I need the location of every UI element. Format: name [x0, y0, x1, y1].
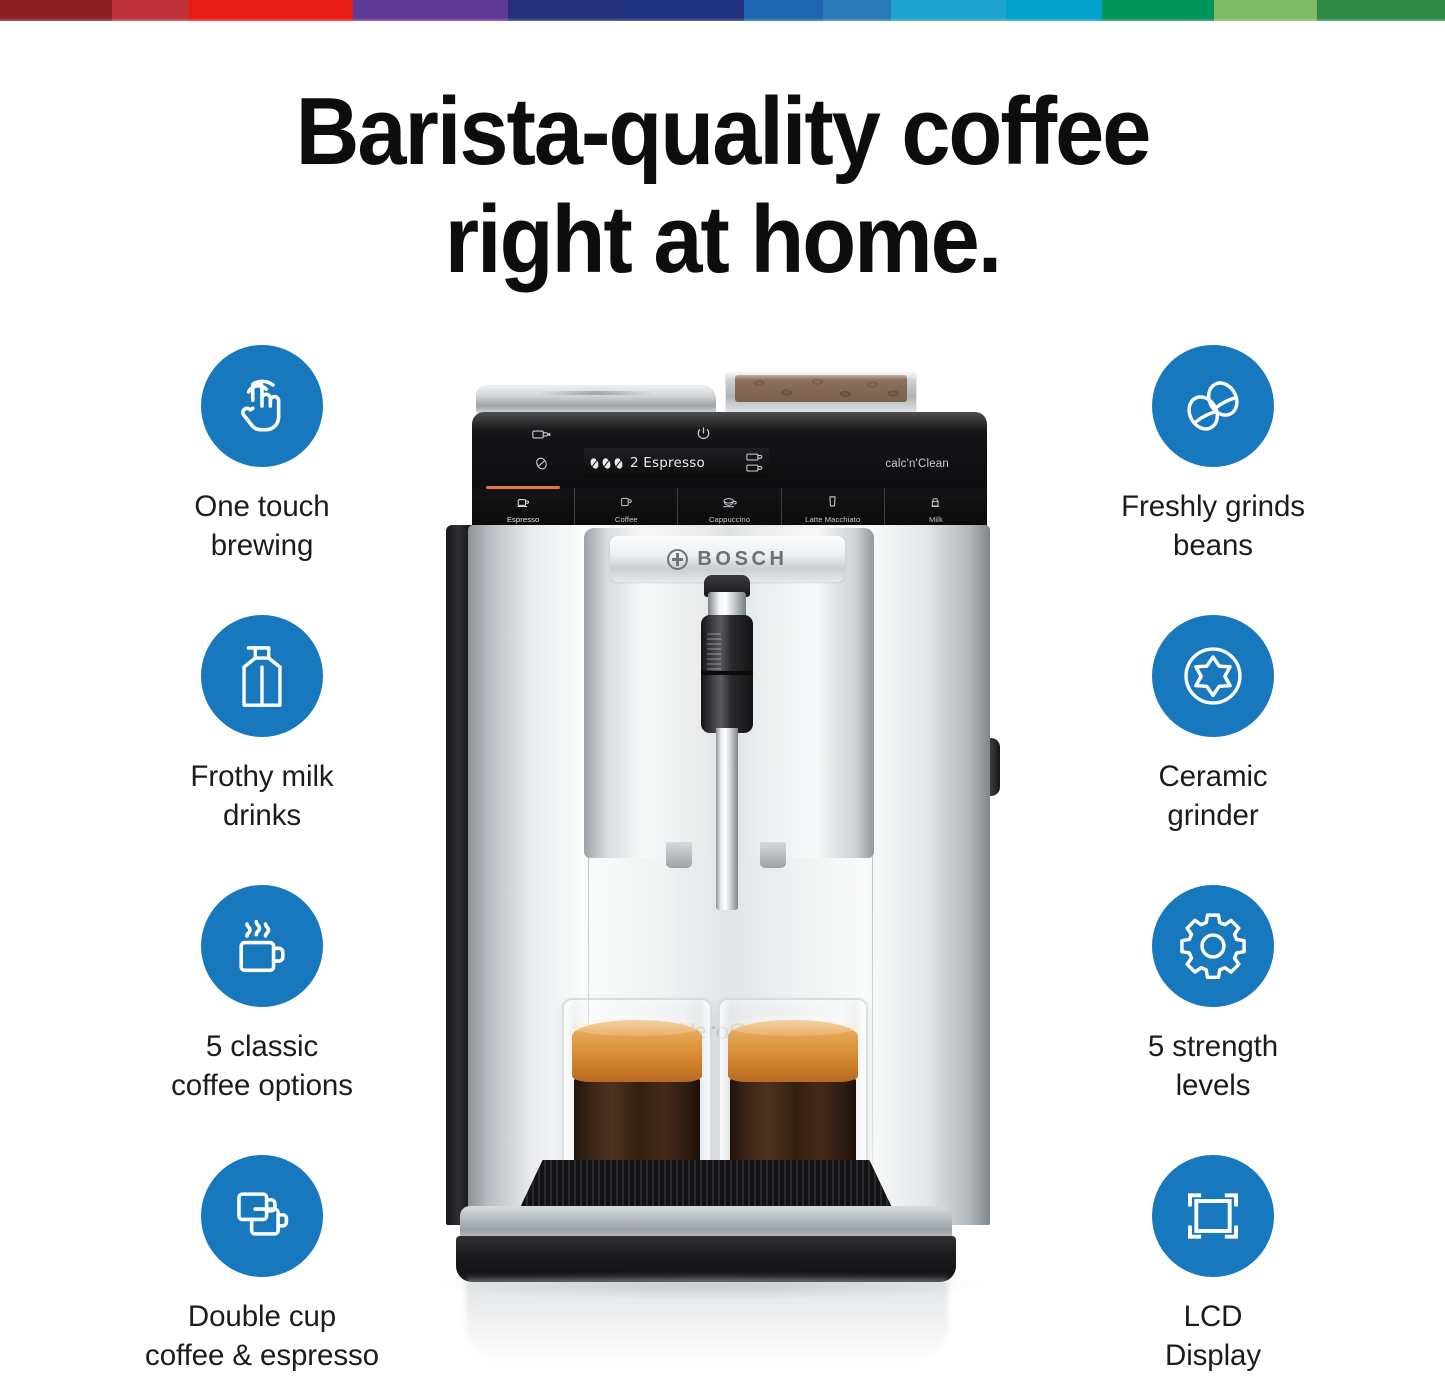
bosch-logo-icon [667, 549, 688, 570]
machine-top-lids [476, 370, 981, 418]
cappuccino-icon [722, 495, 737, 513]
lcd-selection-text: 2 Espresso [630, 455, 705, 471]
drink-button-label: Espresso [507, 515, 539, 524]
power-icon[interactable] [696, 426, 711, 446]
feature-label: 5 classic coffee options [112, 1027, 412, 1105]
page-title: Barista-quality coffee right at home. [58, 78, 1387, 293]
drink-button-label: Coffee [615, 515, 638, 524]
milk-frother-tube [716, 728, 738, 910]
lcd-display: 2 Espresso [584, 448, 769, 478]
drink-button-espresso[interactable]: Espresso [472, 488, 575, 530]
feature-double-cup: Double cup coffee & espresso [112, 1155, 412, 1386]
bosch-wordmark: BOSCH [697, 548, 787, 571]
feature-label: Freshly grinds beans [1063, 487, 1363, 565]
lcd-bean-2 [614, 457, 623, 470]
drink-button-label: Milk [929, 515, 943, 524]
latte-macchiato-icon [827, 495, 838, 513]
calc-n-clean-label[interactable]: calc'n'Clean [885, 458, 949, 470]
coffee-icon [620, 495, 633, 513]
feature-5-strength-levels: 5 strength levels [1063, 885, 1363, 1155]
screen-frame-icon [1152, 1155, 1274, 1277]
lcd-bean-0 [590, 457, 599, 470]
milk-carton-icon [201, 615, 323, 737]
feature-label: Ceramic grinder [1063, 757, 1363, 835]
drip-tray-top [460, 1206, 952, 1240]
drink-selection-row: EspressoCoffeeCappuccinoLatte MacchiatoM… [472, 488, 987, 530]
feature-column-right: Freshly grinds beans Ceramic grinder 5 s… [1063, 345, 1363, 1386]
coffee-spout-left [666, 842, 692, 868]
drink-button-label: Latte Macchiato [805, 515, 860, 524]
feature-label: LCD Display [1063, 1297, 1363, 1375]
water-tank-lid[interactable] [476, 384, 716, 414]
feature-label: Frothy milk drinks [112, 757, 412, 835]
bean-hopper[interactable] [726, 370, 916, 414]
cup-refill-icon[interactable] [532, 428, 551, 446]
steaming-mug-icon [201, 885, 323, 1007]
surface-reflection [466, 1278, 948, 1364]
lcd-cup-indicator [746, 453, 763, 473]
feature-ceramic-grinder: Ceramic grinder [1063, 615, 1363, 885]
feature-label: Double cup coffee & espresso [112, 1297, 412, 1375]
control-panel: 2 Espresso calc'n'Clean [472, 412, 987, 490]
gear-icon [1152, 885, 1274, 1007]
infographic-page: Barista-quality coffee right at home. On… [0, 0, 1445, 1386]
drink-button-latte-macchiato[interactable]: Latte Macchiato [782, 488, 885, 530]
drink-button-milk[interactable]: Milk [885, 488, 987, 530]
lcd-strength-beans [590, 457, 623, 470]
lcd-bean-1 [602, 457, 611, 470]
coffee-beans-icon [1152, 345, 1274, 467]
double-cup-icon [201, 1155, 323, 1277]
stripe-fade [0, 18, 1445, 32]
coffee-spout-right [760, 842, 786, 868]
feature-label: One touch brewing [112, 487, 412, 565]
milk-icon [929, 495, 943, 513]
feature-one-touch-brewing: One touch brewing [112, 345, 412, 615]
crema-rim-highlight [726, 1016, 860, 1036]
feature-lcd-display: LCD Display [1063, 1155, 1363, 1386]
product-image-coffee-machine: 2 Espresso calc'n'Clean EspressoCoffeeCa… [420, 370, 1040, 1370]
strength-icon[interactable] [534, 456, 549, 476]
milk-frother-collar[interactable] [701, 615, 753, 733]
feature-frothy-milk-drinks: Frothy milk drinks [112, 615, 412, 885]
espresso-icon [517, 495, 530, 513]
hopper-gloss [726, 370, 916, 380]
feature-column-left: One touch brewing Frothy milk drinks [112, 345, 412, 1386]
headline-line-2: right at home. [58, 186, 1387, 294]
drink-button-cappuccino[interactable]: Cappuccino [678, 488, 781, 530]
headline-line-1: Barista-quality coffee [58, 78, 1387, 186]
drink-button-label: Cappuccino [709, 515, 750, 524]
crema-rim-highlight [570, 1016, 704, 1036]
feature-5-classic-coffee-options: 5 classic coffee options [112, 885, 412, 1155]
drink-button-coffee[interactable]: Coffee [575, 488, 678, 530]
feature-freshly-grinds-beans: Freshly grinds beans [1063, 345, 1363, 615]
feature-label: 5 strength levels [1063, 1027, 1363, 1105]
ceramic-burr-icon [1152, 615, 1274, 737]
touch-hand-icon [201, 345, 323, 467]
